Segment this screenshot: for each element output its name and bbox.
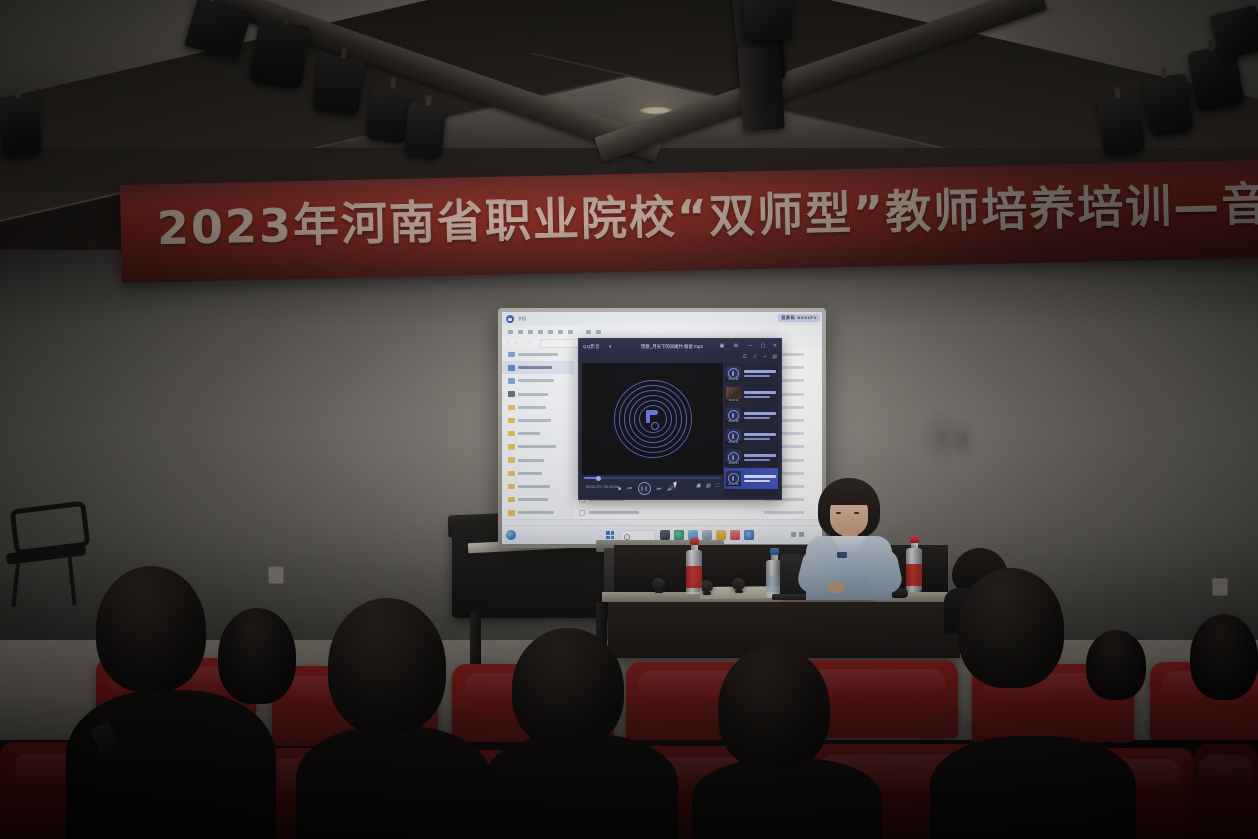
stage-spotlight [403,102,446,160]
audience-member [1190,614,1258,700]
folding-chair [6,505,90,601]
screenshot-button[interactable]: ▣ [696,482,701,490]
previous-button[interactable]: ⏮ [627,485,632,493]
audience-member [66,690,276,839]
edge-icon[interactable] [506,530,516,540]
water-bottle [906,536,922,592]
lecture-hall-photo: 2023年河南省职业院校“双师型”教师培养培训—音乐表 文档 投屏码 NSX6F… [0,0,1258,839]
file-explorer-icon[interactable] [660,530,670,540]
display-screen[interactable]: 文档 投屏码 NSX6FV ‹ › ↑ [502,312,822,544]
music-note-icon [645,410,661,428]
cut-icon[interactable] [518,330,523,334]
shuffle-icon[interactable]: ⤮ [752,355,757,360]
audience-member [218,608,296,704]
playlist-item-active[interactable]: 00:04:56 [724,468,778,489]
audio-thumbnail: 00:03:58 [726,408,741,423]
audio-thumbnail: 00:04:56 [726,471,741,486]
presenter-hand [828,582,844,593]
volume-button[interactable]: 🔊 [667,485,673,493]
explorer-app-icon [506,315,514,323]
maximize-button[interactable]: ▢ [760,343,766,349]
player-app-name: QQ影音 [583,344,600,350]
sidebar-item[interactable] [502,374,574,387]
view-icon[interactable] [596,330,601,334]
wall-socket [268,566,284,584]
up-icon[interactable]: ↑ [528,341,532,345]
back-icon[interactable]: ‹ [507,341,511,345]
sidebar-item[interactable] [502,506,574,519]
item-duration: 00:06:14 [726,399,741,402]
desk-microphone [652,578,665,590]
presenter-eye [836,512,841,514]
now-playing-title: 赞歌_月光下的凤尾竹 群星.mp3 [641,344,703,350]
item-duration: 00:03:58 [726,420,741,423]
browser-icon[interactable] [674,530,684,540]
desk-microphone [732,578,745,590]
audience-member [718,646,830,770]
presenter-eye [854,512,859,514]
presenter [806,478,892,600]
media-player-icon[interactable] [730,530,740,540]
close-button[interactable]: ✕ [772,343,778,349]
audience-member [1086,630,1146,700]
playlist-item-text [744,412,776,419]
player-playlist[interactable]: 00:04:30 00:06:14 00:03:58 00:09:11 [724,363,778,496]
playlist-item-text [744,475,776,482]
player-video-area[interactable] [582,363,723,475]
playlist-item-text [744,454,776,461]
item-duration: 00:05:04 [726,462,741,465]
presenter-badge [837,552,847,558]
audience-member [328,598,446,734]
delete-icon[interactable] [568,330,573,334]
player-extra-buttons[interactable]: ▣ ▤ ⛶ [696,482,719,490]
audience-member [482,734,678,839]
sidebar-item[interactable] [502,388,574,401]
playlist-item[interactable]: 00:03:58 [724,405,778,426]
player-menu-chevron-icon[interactable]: ▾ [609,344,612,350]
windows-start-button[interactable] [606,531,614,539]
playlist-item[interactable]: 00:06:14 [724,384,778,405]
playlist-item[interactable]: 00:09:11 [724,426,778,447]
video-thumbnail: 00:06:14 [726,387,741,402]
sidebar-item[interactable] [502,401,574,414]
stage-spotlight [744,0,792,40]
playlist-item[interactable]: 00:04:30 [724,363,778,384]
qq-player-window[interactable]: QQ影音 ▾ 赞歌_月光下的凤尾竹 群星.mp3 ▣ ✿ — ▢ ✕ ☰ ⤮ ＋… [578,338,782,500]
stage-spotlight [0,95,42,158]
stage-spotlight [312,53,366,117]
stage-spotlight [1097,94,1146,157]
wall-socket [1212,578,1228,596]
share-icon[interactable] [558,330,563,334]
audience-member [296,726,492,839]
file-row[interactable] [574,506,822,519]
forward-icon[interactable]: › [516,341,520,345]
seek-slider[interactable] [584,477,721,479]
item-duration: 00:09:11 [726,441,741,444]
wall-scuff [950,418,978,462]
add-file-icon[interactable]: ＋ [762,355,767,360]
playlist-item-text [744,370,776,377]
sidebar-item[interactable] [502,467,574,480]
audience-member [96,566,206,692]
stage-spotlight [737,45,785,132]
explorer-tab-label[interactable]: 文档 [518,316,526,322]
audience-member [692,758,882,839]
transport-buttons[interactable]: ■ ⏮ ❙❙ ⏭ 🔊 [618,482,673,495]
stop-button[interactable]: ■ [618,485,621,493]
next-button[interactable]: ⏭ [657,485,662,493]
sidebar-item[interactable] [502,454,574,467]
player-sub-toolbar[interactable]: ☰ ⤮ ＋ ▤ [742,355,777,360]
audience-member [930,736,1136,839]
fullscreen-button[interactable]: ⛶ [715,482,719,490]
album-art-vinyl [614,380,692,458]
explorer-sidebar[interactable] [502,348,575,520]
sidebar-item[interactable] [502,427,574,440]
paste-icon[interactable] [538,330,543,334]
copy-icon[interactable] [528,330,533,334]
playlist-item-text [744,433,776,440]
sidebar-item[interactable] [502,480,574,493]
player-controls[interactable]: 00:00:23 / 00:04:56 ■ ⏮ ❙❙ ⏭ 🔊 ▣ ▤ ⛶ [582,475,723,496]
mouse-cursor-icon [673,482,679,489]
new-item-icon[interactable] [508,330,513,334]
item-duration: 00:04:56 [726,483,741,486]
stage-spotlight [1142,73,1194,137]
sidebar-item-selected[interactable] [502,361,574,374]
store-icon[interactable] [702,530,712,540]
chair-leg [67,555,76,605]
play-pause-button[interactable]: ❙❙ [638,482,651,495]
settings-button[interactable]: ✿ [733,343,739,349]
cast-code-badge: 投屏码 NSX6FV [778,314,820,322]
explorer-title-bar[interactable]: 文档 投屏码 NSX6FV [502,312,822,325]
audio-thumbnail: 00:05:04 [726,450,741,465]
audio-thumbnail: 00:04:30 [726,366,741,381]
cast-button[interactable]: ▣ [719,343,725,349]
sidebar-item[interactable] [502,493,574,506]
audio-thumbnail: 00:09:11 [726,429,741,444]
rename-icon[interactable] [548,330,553,334]
playlist-item-text [744,391,776,398]
stage-spotlight [249,18,311,90]
audience-member [958,568,1064,688]
settings-icon[interactable] [744,530,754,540]
presenter-fringe [826,486,872,505]
chair-leg [11,557,20,607]
delete-icon[interactable]: ▤ [772,355,777,360]
minimize-button[interactable]: — [747,343,753,349]
playlist-button[interactable]: ▤ [706,482,711,490]
playlist-item[interactable]: 00:05:04 [724,447,778,468]
player-title-bar[interactable]: QQ影音 ▾ 赞歌_月光下的凤尾竹 群星.mp3 ▣ ✿ — ▢ ✕ [579,339,781,354]
time-display: 00:00:23 / 00:04:56 [586,485,619,489]
theater-seat [1194,744,1258,839]
sort-icon[interactable] [586,330,591,334]
sidebar-item[interactable] [502,414,574,427]
sidebar-item[interactable] [502,348,574,361]
sidebar-item[interactable] [502,440,574,453]
list-view-icon[interactable]: ☰ [742,355,747,360]
folder-icon[interactable] [716,530,726,540]
water-bottle [686,538,702,594]
audience-member [512,628,624,748]
item-duration: 00:04:30 [726,378,741,381]
interactive-flat-panel[interactable]: 文档 投屏码 NSX6FV ‹ › ↑ [498,308,826,548]
